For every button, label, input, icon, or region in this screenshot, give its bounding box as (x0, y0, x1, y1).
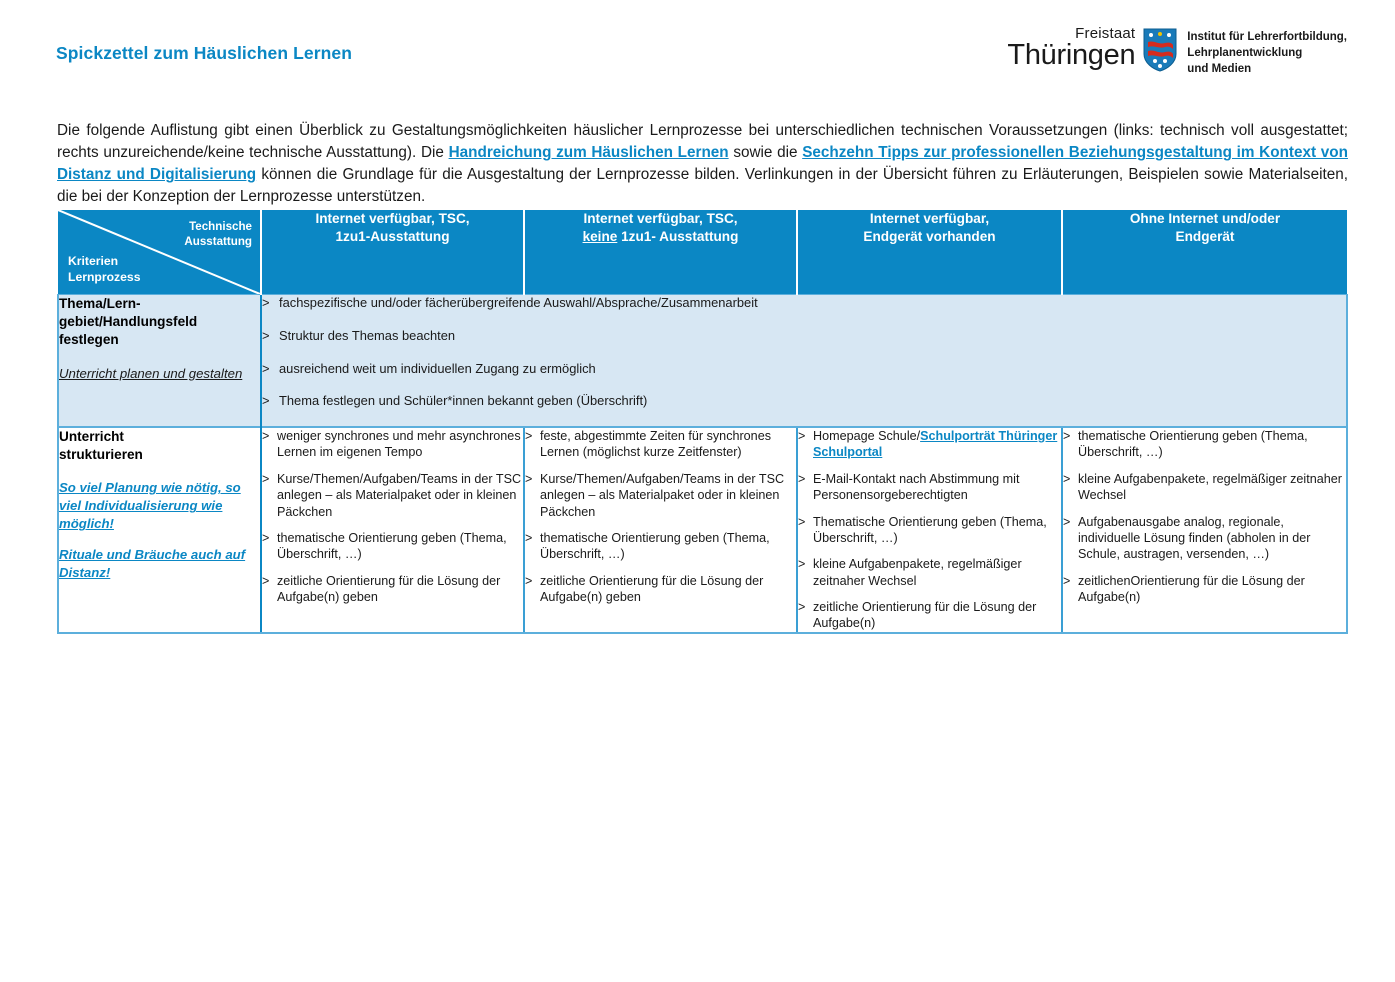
criterion-title-1: Thema/Lern- gebiet/Handlungsfeld festleg… (59, 295, 260, 350)
corner-top-line-1: Technische (184, 219, 252, 234)
column-header-2-rest: 1zu1- Ausstattung (617, 229, 738, 244)
list-item: zeitliche Orientierung für die Lösung de… (525, 573, 796, 606)
criterion-title-1-line-3: festlegen (59, 331, 260, 349)
corner-bottom-line-1: Kriterien (68, 253, 140, 269)
row-2-cell-3: Homepage Schule/Schulporträt Thüringer S… (797, 427, 1062, 633)
row-2-cell-1: weniger synchrones und mehr asynchrones … (261, 427, 524, 633)
column-header-3-line-2: Endgerät vorhanden (798, 228, 1061, 246)
list-item: E-Mail-Kontakt nach Abstimmung mit Perso… (798, 471, 1061, 504)
institute-line-1: Institut für Lehrerfortbildung, (1187, 30, 1347, 46)
link-rituale-und-braeuche[interactable]: Rituale und Bräuche auch auf Distanz! (59, 546, 260, 582)
criterion-links-1: Unterricht planen und gestalten (59, 365, 260, 383)
list-item: ausreichend weit um individuellen Zugang… (262, 361, 1346, 378)
column-header-1-line-1: Internet verfügbar, TSC, (262, 210, 523, 228)
column-header-2-line-2: keine 1zu1- Ausstattung (525, 228, 796, 246)
intro-paragraph: Die folgende Auflistung gibt einen Überb… (57, 120, 1348, 208)
criterion-title-2: Unterricht strukturieren (59, 428, 260, 464)
column-header-2: Internet verfügbar, TSC, keine 1zu1- Aus… (524, 210, 797, 295)
criterion-cell-2: Unterricht strukturieren So viel Planung… (58, 427, 261, 633)
list-item-text: Homepage Schule/ (813, 429, 920, 443)
list-item: thematische Orientierung geben (Thema, Ü… (262, 530, 523, 563)
table-header-row: Technische Ausstattung Kriterien Lernpro… (58, 210, 1347, 295)
freistaat-thueringen-wordmark: Freistaat Thüringen (1007, 26, 1141, 70)
header-corner-bottom-label: Kriterien Lernprozess (68, 253, 140, 285)
bullet-list-row-2-col-4: thematische Orientierung geben (Thema, Ü… (1063, 428, 1346, 605)
bullet-list-row-1: fachspezifische und/oder fächerübergreif… (262, 295, 1346, 410)
corner-top-line-2: Ausstattung (184, 234, 252, 249)
page-header: Spickzettel zum Häuslichen Lernen Freist… (0, 0, 1395, 92)
list-item: kleine Aufgabenpakete, regelmäßiger zeit… (798, 556, 1061, 589)
column-header-1-line-2: 1zu1-Ausstattung (262, 228, 523, 246)
row-1-merged-content: fachspezifische und/oder fächerübergreif… (261, 295, 1347, 428)
column-header-2-line-1: Internet verfügbar, TSC, (525, 210, 796, 228)
list-item: Thema festlegen und Schüler*innen bekann… (262, 393, 1346, 410)
list-item: Thematische Orientierung geben (Thema, Ü… (798, 514, 1061, 547)
link-unterricht-planen-und-gestalten[interactable]: Unterricht planen und gestalten (59, 365, 260, 383)
row-2-cell-4: thematische Orientierung geben (Thema, Ü… (1062, 427, 1347, 633)
bullet-list-row-2-col-3: Homepage Schule/Schulporträt Thüringer S… (798, 428, 1061, 632)
list-item: thematische Orientierung geben (Thema, Ü… (1063, 428, 1346, 461)
column-header-4: Ohne Internet und/oder Endgerät (1062, 210, 1347, 295)
header-corner-top-label: Technische Ausstattung (184, 219, 252, 249)
list-item: Struktur des Themas beachten (262, 328, 1346, 345)
list-item: fachspezifische und/oder fächerübergreif… (262, 295, 1346, 312)
link-so-viel-planung-wie-noetig[interactable]: So viel Planung wie nötig, so viel Indiv… (59, 479, 260, 533)
list-item: thematische Orientierung geben (Thema, Ü… (525, 530, 796, 563)
list-item: zeitliche Orientierung für die Lösung de… (798, 599, 1061, 632)
criterion-links-2: So viel Planung wie nötig, so viel Indiv… (59, 479, 260, 582)
column-header-3-line-1: Internet verfügbar, (798, 210, 1061, 228)
bullet-list-row-2-col-2: feste, abgestimmte Zeiten für synchrones… (525, 428, 796, 605)
page-title: Spickzettel zum Häuslichen Lernen (56, 43, 352, 64)
column-header-4-line-1: Ohne Internet und/oder (1063, 210, 1347, 228)
institute-name: Institut für Lehrerfortbildung, Lehrplan… (1187, 26, 1347, 78)
list-item: Homepage Schule/Schulporträt Thüringer S… (798, 428, 1061, 461)
criterion-title-2-line-2: strukturieren (59, 446, 260, 464)
list-item: weniger synchrones und mehr asynchrones … (262, 428, 523, 461)
logo-line-thueringen: Thüringen (1007, 42, 1135, 70)
intro-text-2: sowie die (729, 144, 803, 161)
criterion-title-1-line-1: Thema/Lern- (59, 295, 260, 313)
list-item: kleine Aufgabenpakete, regelmäßiger zeit… (1063, 471, 1346, 504)
criterion-cell-1: Thema/Lern- gebiet/Handlungsfeld festleg… (58, 295, 261, 428)
bullet-list-row-2-col-1: weniger synchrones und mehr asynchrones … (262, 428, 523, 605)
criterion-title-1-line-2: gebiet/Handlungsfeld (59, 313, 260, 331)
thuringia-coat-of-arms-icon (1143, 28, 1177, 72)
institute-line-3: und Medien (1187, 62, 1347, 78)
list-item: Aufgabenausgabe analog, regionale, indiv… (1063, 514, 1346, 563)
institute-line-2: Lehrplanentwicklung (1187, 46, 1347, 62)
column-header-1: Internet verfügbar, TSC, 1zu1-Ausstattun… (261, 210, 524, 295)
list-item: Kurse/Themen/Aufgaben/Teams in der TSC a… (262, 471, 523, 520)
corner-bottom-line-2: Lernprozess (68, 269, 140, 285)
header-corner-cell: Technische Ausstattung Kriterien Lernpro… (58, 210, 261, 295)
overview-table: Technische Ausstattung Kriterien Lernpro… (57, 210, 1348, 634)
link-handreichung[interactable]: Handreichung zum Häuslichen Lernen (449, 144, 729, 161)
column-header-3: Internet verfügbar, Endgerät vorhanden (797, 210, 1062, 295)
column-header-2-keine: keine (583, 229, 618, 244)
row-2-cell-2: feste, abgestimmte Zeiten für synchrones… (524, 427, 797, 633)
criterion-title-2-line-1: Unterricht (59, 428, 260, 446)
column-header-4-line-2: Endgerät (1063, 228, 1347, 246)
list-item: zeitlichenOrientierung für die Lösung de… (1063, 573, 1346, 606)
list-item: feste, abgestimmte Zeiten für synchrones… (525, 428, 796, 461)
table-row-thema-festlegen: Thema/Lern- gebiet/Handlungsfeld festleg… (58, 295, 1347, 428)
list-item: Kurse/Themen/Aufgaben/Teams in der TSC a… (525, 471, 796, 520)
table-row-unterricht-strukturieren: Unterricht strukturieren So viel Planung… (58, 427, 1347, 633)
logo-block: Freistaat Thüringen Institut für Lehrerf… (1007, 26, 1347, 78)
list-item: zeitliche Orientierung für die Lösung de… (262, 573, 523, 606)
